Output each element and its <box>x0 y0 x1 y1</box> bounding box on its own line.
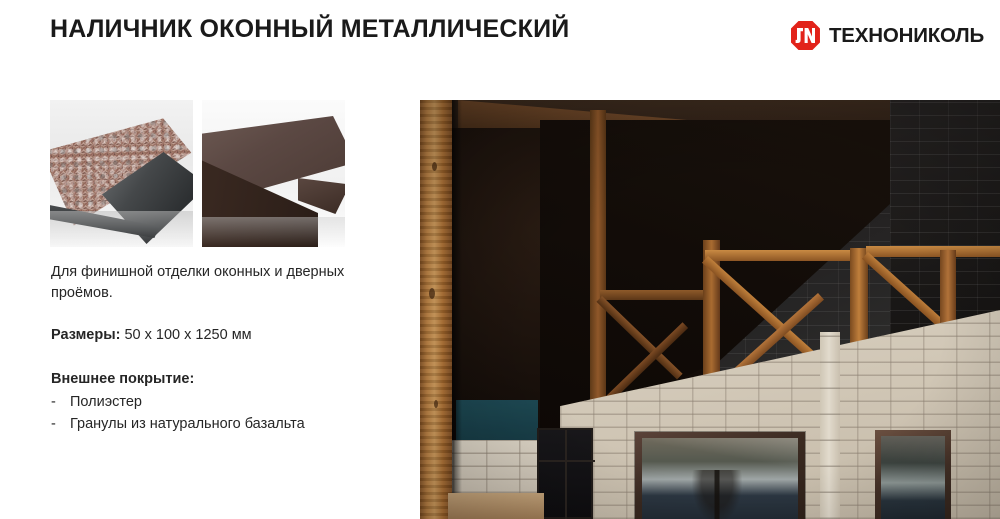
brand-name: ТЕХНОНИКОЛЬ <box>829 24 984 48</box>
window-glass <box>881 436 945 519</box>
brick-corner-quoin <box>820 332 840 519</box>
porch-floor <box>448 493 544 519</box>
dimensions-label: Размеры: <box>51 327 120 343</box>
product-description: Для финишной отделки оконных и дверных п… <box>51 262 391 304</box>
railing-top-rail <box>866 246 1000 257</box>
list-item-label: Гранулы из натурального базальта <box>70 413 305 435</box>
granule-profile-thumbnail <box>50 100 193 247</box>
brown-profile-thumbnail <box>202 100 345 247</box>
bullet-dash: - <box>51 391 70 413</box>
entrance-door <box>537 428 593 519</box>
tree-reflection <box>688 470 746 519</box>
wooden-porch-post <box>420 100 452 519</box>
door-mullion <box>565 430 567 519</box>
wood-knot <box>434 400 438 408</box>
wood-knot <box>432 162 437 171</box>
window-with-metal-trim <box>635 432 805 519</box>
railing-top-rail <box>705 250 855 261</box>
tn-logo-icon <box>791 21 820 50</box>
brand-logo: ТЕХНОНИКОЛЬ <box>791 21 984 50</box>
dimensions-line: Размеры: 50 x 100 x 1250 мм <box>51 327 252 343</box>
dimensions-value: 50 x 100 x 1250 мм <box>124 327 251 343</box>
list-item: - Полиэстер <box>51 391 305 413</box>
railing-top-rail <box>600 290 706 300</box>
installation-photo <box>420 100 1000 519</box>
post-shadow <box>452 100 462 519</box>
thumbnail-shadow <box>50 211 193 247</box>
wood-knot <box>429 288 435 299</box>
thumbnail-shadow <box>202 217 345 247</box>
list-item-label: Полиэстер <box>70 391 142 413</box>
list-item: - Гранулы из натурального базальта <box>51 413 305 435</box>
coating-list: - Полиэстер - Гранулы из натурального ба… <box>51 391 305 435</box>
door-transom <box>539 460 595 462</box>
page-title: НАЛИЧНИК ОКОННЫЙ МЕТАЛЛИЧЕСКИЙ <box>50 15 569 44</box>
coating-title: Внешнее покрытие: <box>51 371 194 387</box>
window-glass <box>642 438 798 519</box>
window-with-metal-trim <box>875 430 951 519</box>
bullet-dash: - <box>51 413 70 435</box>
